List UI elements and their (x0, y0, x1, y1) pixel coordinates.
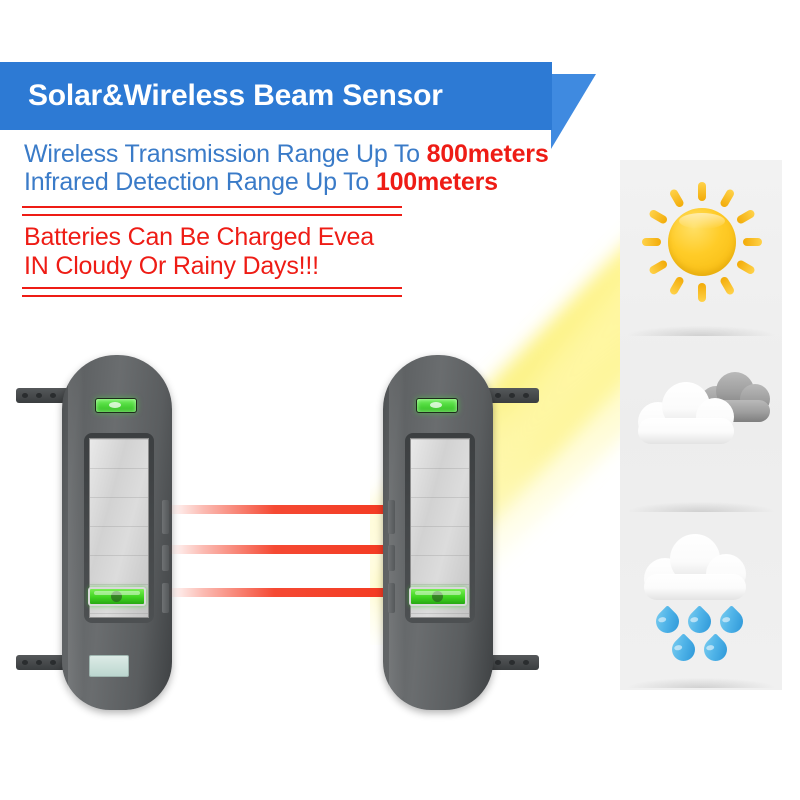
callout-line-1: Batteries Can Be Charged Evea (24, 223, 402, 252)
cell-shadow (628, 502, 774, 512)
callout-text: Batteries Can Be Charged Evea IN Cloudy … (22, 216, 402, 287)
sun-disc (668, 208, 736, 276)
callout-line-2: IN Cloudy Or Rainy Days!!! (24, 252, 402, 281)
infrared-beam (168, 545, 390, 554)
status-led (416, 398, 458, 413)
header-banner: Solar&Wireless Beam Sensor (0, 62, 596, 130)
battery-callout: Batteries Can Be Charged Evea IN Cloudy … (22, 206, 402, 297)
raindrop (667, 633, 700, 666)
status-led (95, 398, 137, 413)
raindrop (683, 605, 716, 638)
weather-cell-cloudy (620, 336, 782, 512)
raindrop (715, 605, 748, 638)
raindrop (651, 605, 684, 638)
weather-cell-rainy (620, 512, 782, 688)
callout-rule-top (22, 206, 402, 216)
banner-bar: Solar&Wireless Beam Sensor (0, 62, 552, 130)
receiver-sensor[interactable] (383, 355, 493, 710)
cell-shadow (628, 326, 774, 336)
weather-conditions-panel (620, 160, 782, 690)
infrared-beam (168, 588, 390, 597)
spec-suffix: meters (468, 140, 549, 168)
spec-value: 800 (427, 140, 468, 168)
bubble-level (409, 587, 467, 606)
transmitter-sensor[interactable] (62, 355, 172, 710)
side-button-mid[interactable] (388, 545, 395, 571)
spec-suffix: meters (417, 168, 498, 196)
sensor-housing (62, 355, 172, 710)
spec-value: 100 (376, 168, 417, 196)
side-button-upper[interactable] (388, 500, 395, 534)
raindrop (699, 633, 732, 666)
cell-shadow (628, 678, 774, 688)
weather-cell-sunny (620, 160, 782, 336)
spec-line-detection: Infrared Detection Range Up To 100meters (24, 168, 498, 197)
spec-prefix: Wireless Transmission Range Up To (24, 140, 427, 168)
cloud-white-icon (638, 380, 736, 444)
product-marketing-image: Solar&Wireless Beam Sensor Wireless Tran… (0, 0, 800, 800)
bubble-level (88, 587, 146, 606)
banner-ribbon-tail (551, 74, 596, 149)
spec-prefix: Infrared Detection Range Up To (24, 168, 376, 196)
callout-rule-bottom (22, 287, 402, 297)
spec-line-transmission: Wireless Transmission Range Up To 800met… (24, 140, 549, 169)
infrared-beam (168, 505, 390, 514)
page-title: Solar&Wireless Beam Sensor (28, 79, 443, 113)
rain-cloud-icon (644, 534, 748, 600)
infrared-window (89, 655, 129, 677)
side-button-lower[interactable] (388, 583, 395, 613)
sun-icon (642, 182, 762, 302)
sensor-housing (383, 355, 493, 710)
housing-highlight (68, 365, 84, 700)
